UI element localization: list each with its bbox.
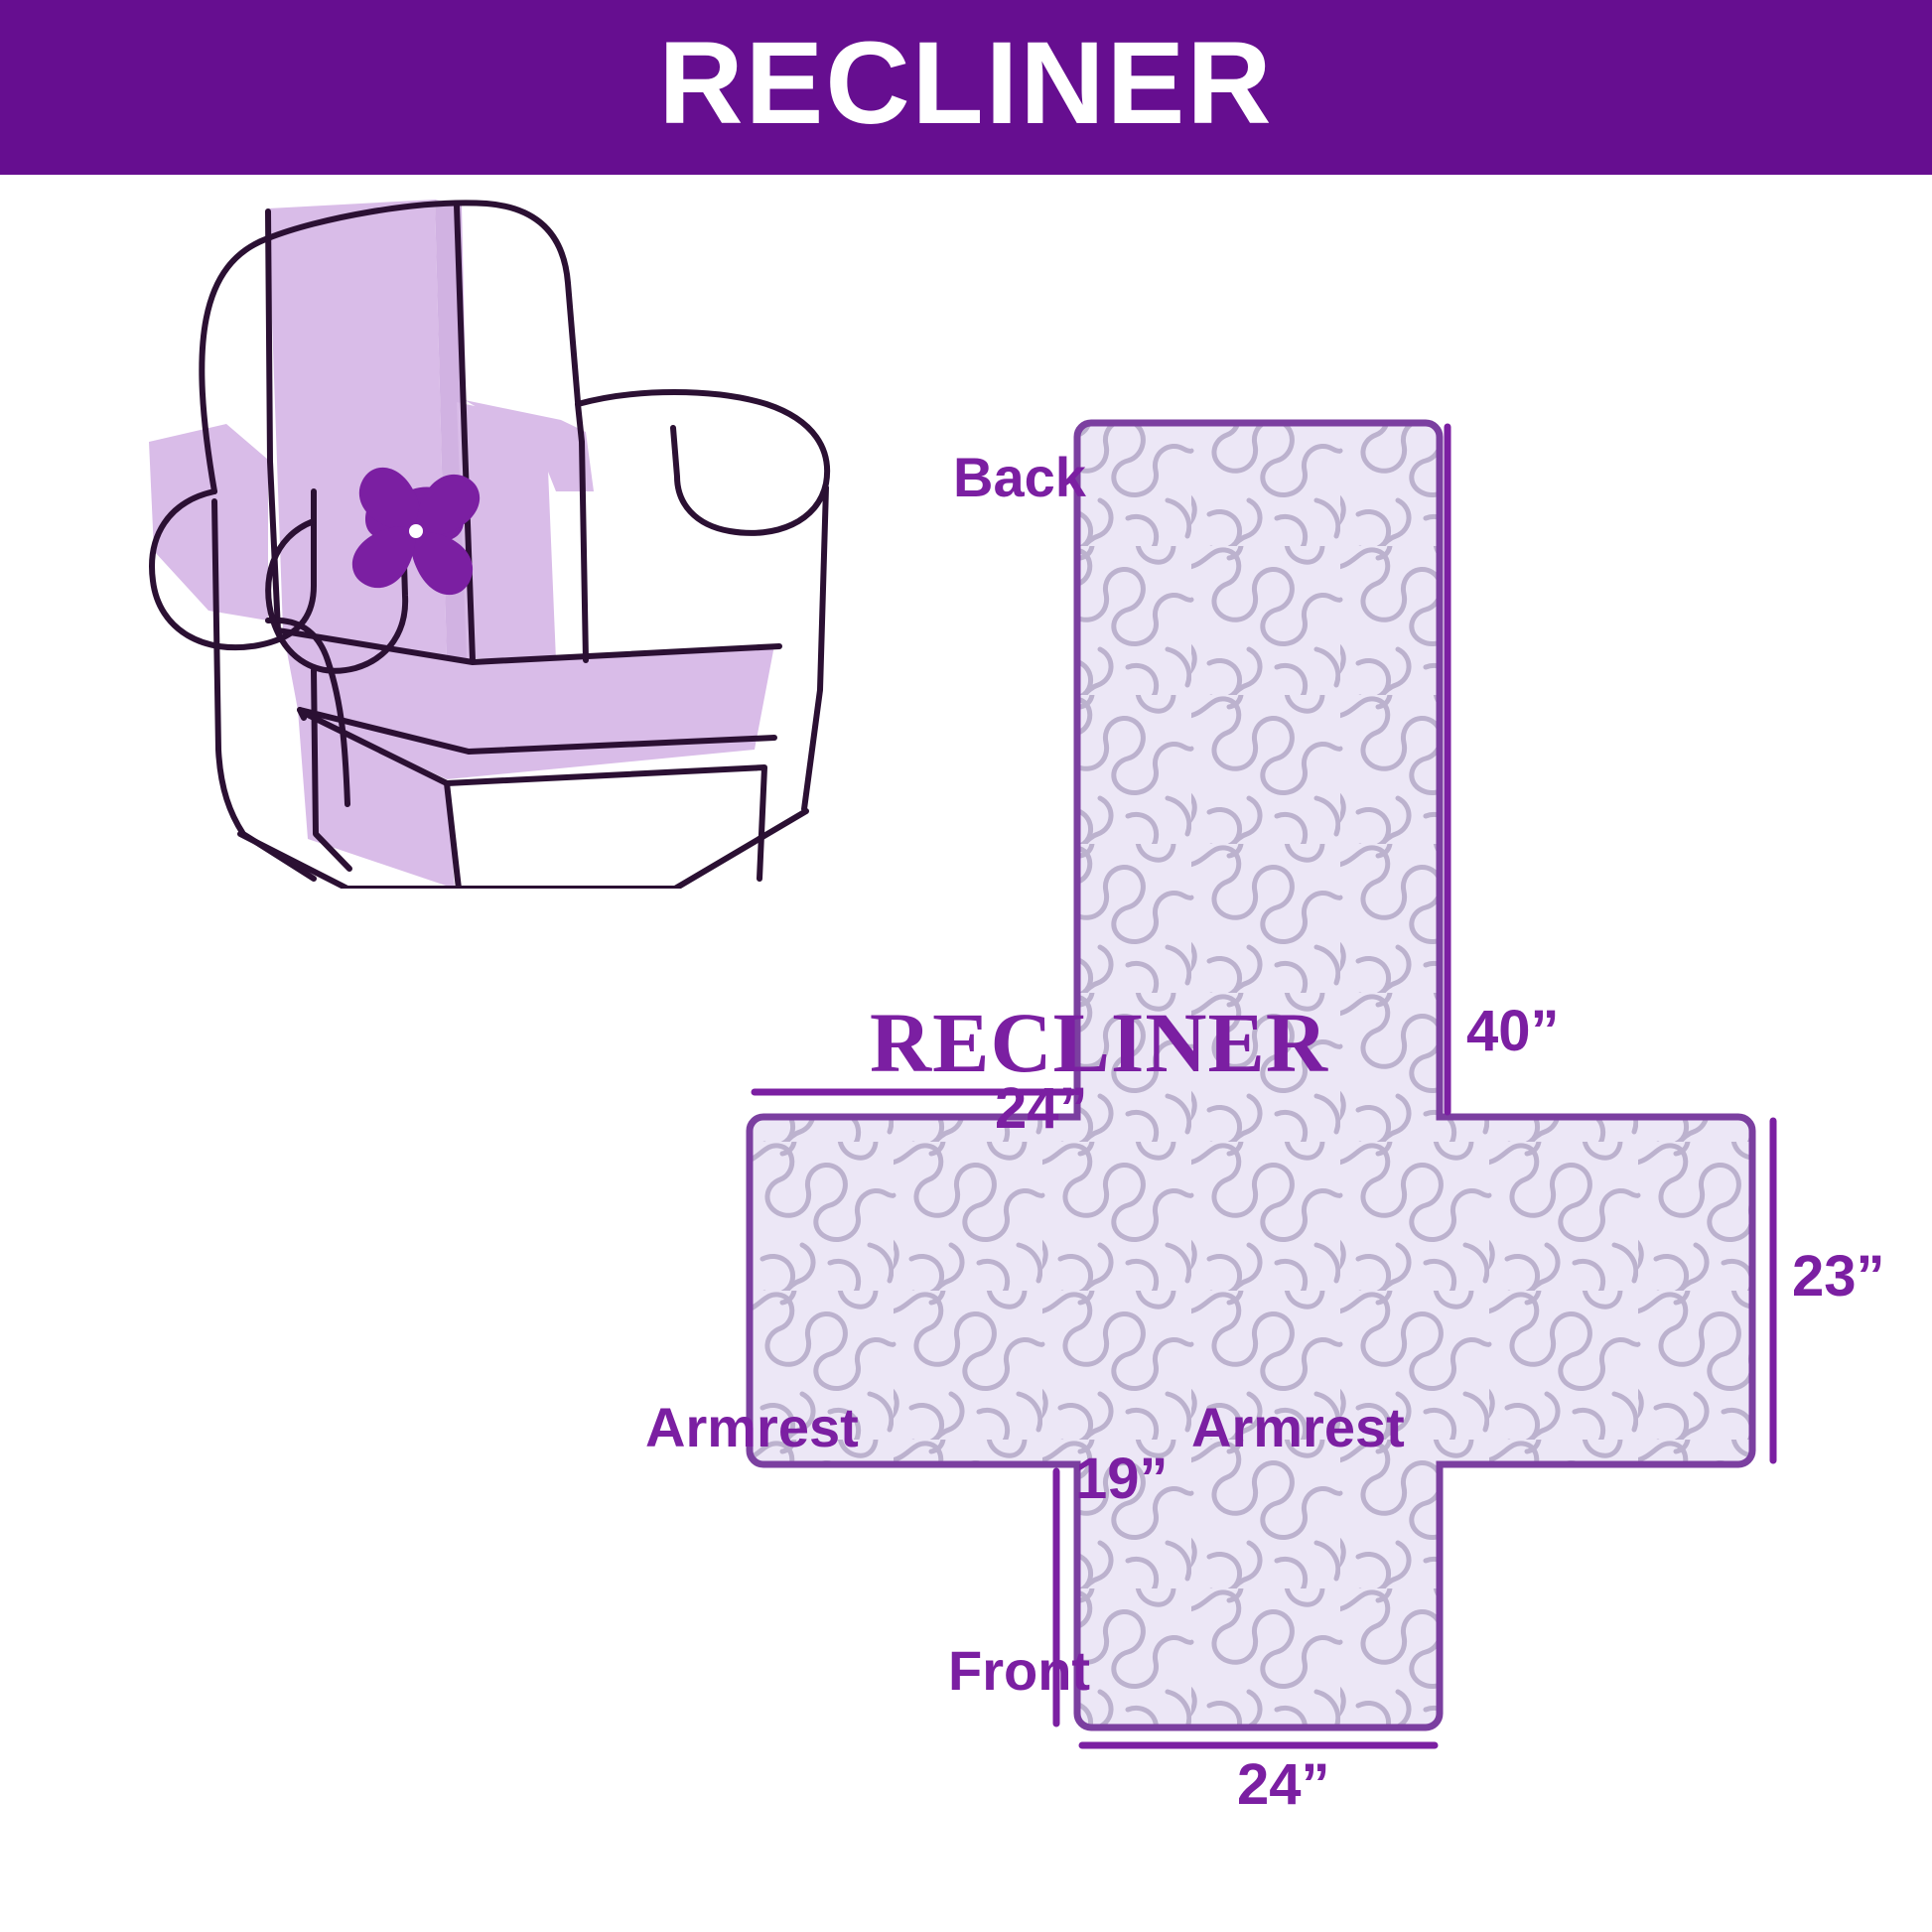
pattern-diagram [596,397,1932,1866]
part-label-front: Front [948,1638,1090,1703]
outline-right-arm-inner-edge [578,404,586,660]
part-label-armrest-right: Armrest [1191,1395,1405,1459]
dimension-label-armrest-height: 23” [1792,1243,1885,1310]
part-label-back: Back [953,445,1086,509]
dimension-label-armrest-width-top: 24” [995,1075,1088,1142]
dimension-label-front-width: 24” [1237,1751,1330,1818]
header-banner: RECLINER [0,0,1932,175]
pattern-center-label: RECLINER [870,993,1328,1092]
dimension-label-front-height: 19” [1075,1446,1169,1512]
dimension-label-back-height: 40” [1466,998,1560,1064]
cover-backrest [268,200,447,660]
page-title: RECLINER [0,14,1932,153]
recliner-size-chart: RECLINER [0,0,1932,1932]
part-label-armrest-left: Armrest [645,1395,859,1459]
